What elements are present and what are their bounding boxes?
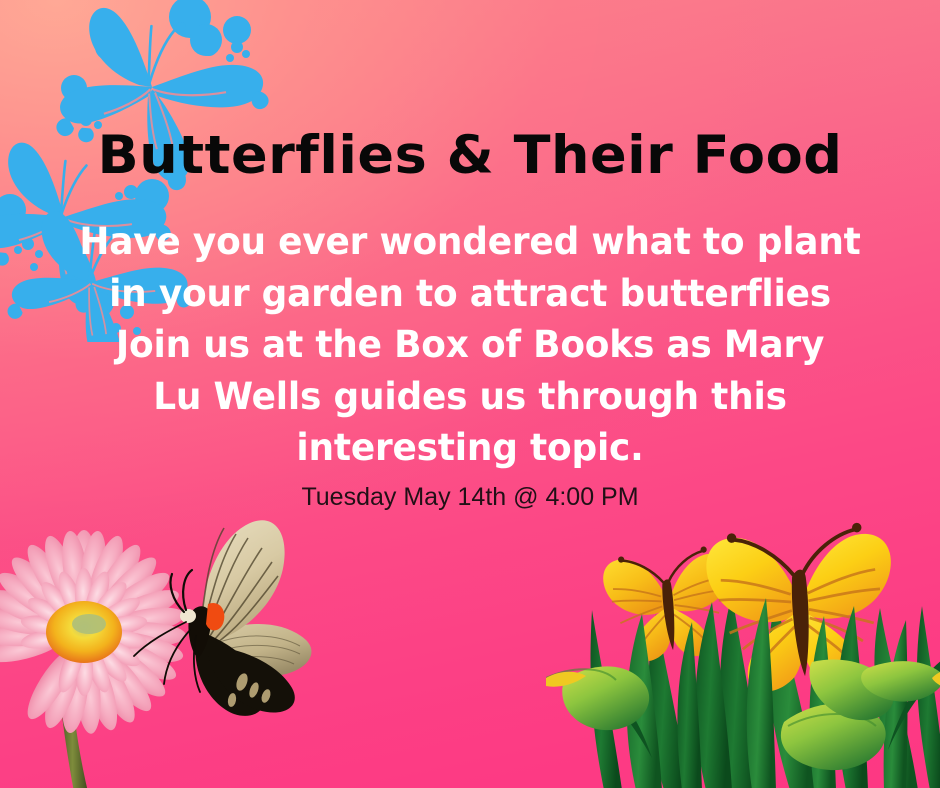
butterfly-orange-spot bbox=[206, 603, 224, 630]
page-title: Butterflies & Their Food bbox=[0, 129, 940, 182]
bubble-icon bbox=[242, 50, 250, 58]
flower-center-disc bbox=[46, 601, 122, 663]
green-grass-with-yellow-butterflies bbox=[546, 510, 940, 788]
body-line: Have you ever wondered what to plant bbox=[14, 216, 926, 268]
bubble-icon bbox=[226, 54, 234, 62]
poster-body-copy: Have you ever wondered what to plant in … bbox=[14, 216, 926, 474]
bubble-icon bbox=[61, 75, 87, 101]
body-line: Join us at the Box of Books as Mary bbox=[14, 319, 926, 371]
flower-butterfly-photo-graphic bbox=[0, 492, 348, 788]
grass-blades-back bbox=[591, 594, 940, 788]
body-line: Lu Wells guides us through this bbox=[14, 371, 926, 423]
body-line: in your garden to attract butterflies bbox=[14, 268, 926, 320]
flower-outer-petals bbox=[0, 529, 187, 734]
butterfly-antenna bbox=[183, 570, 192, 610]
grass-blades-front bbox=[586, 598, 940, 788]
butterfly-hindwing bbox=[195, 632, 266, 716]
bubble-icon bbox=[80, 114, 92, 126]
bubble-icon bbox=[223, 16, 251, 44]
grass-leaves bbox=[546, 660, 940, 771]
body-line: interesting topic. bbox=[14, 422, 926, 474]
bubble-icon bbox=[231, 41, 243, 53]
flower-stem bbox=[60, 698, 88, 788]
grass-butterfly-graphic bbox=[546, 510, 940, 788]
bubble-icon bbox=[176, 22, 186, 32]
bubble-icon bbox=[190, 24, 222, 56]
butterfly-body bbox=[188, 606, 211, 658]
bubble-icon bbox=[95, 34, 121, 60]
bubble-icon bbox=[169, 0, 211, 38]
event-flyer-poster: Butterflies & Their Food Have you ever w… bbox=[0, 0, 940, 788]
butterfly-antenna bbox=[171, 574, 185, 612]
bubble-icon bbox=[200, 38, 218, 56]
butterfly-antenna bbox=[799, 529, 858, 574]
butterfly-wing-stripes bbox=[717, 569, 885, 671]
yellow-butterfly-icon bbox=[704, 521, 899, 696]
butterfly-antenna bbox=[733, 536, 793, 579]
butterfly-forewing bbox=[202, 520, 285, 642]
butterfly-body bbox=[790, 569, 813, 676]
swallowtail-butterfly-icon bbox=[134, 520, 311, 716]
bubble-icon bbox=[115, 192, 123, 200]
bubble-icon bbox=[206, 45, 214, 53]
event-datetime: Tuesday May 14th @ 4:00 PM bbox=[0, 482, 940, 512]
yellow-butterfly-icon bbox=[601, 544, 738, 665]
butterfly-wing-veins bbox=[202, 528, 278, 642]
bubble-icon bbox=[205, 40, 219, 54]
flower-inner-petals bbox=[19, 568, 148, 696]
flower-center-inner bbox=[72, 614, 106, 634]
bubble-icon bbox=[124, 185, 138, 199]
pink-gerbera-with-swallowtail-butterfly bbox=[0, 492, 348, 788]
